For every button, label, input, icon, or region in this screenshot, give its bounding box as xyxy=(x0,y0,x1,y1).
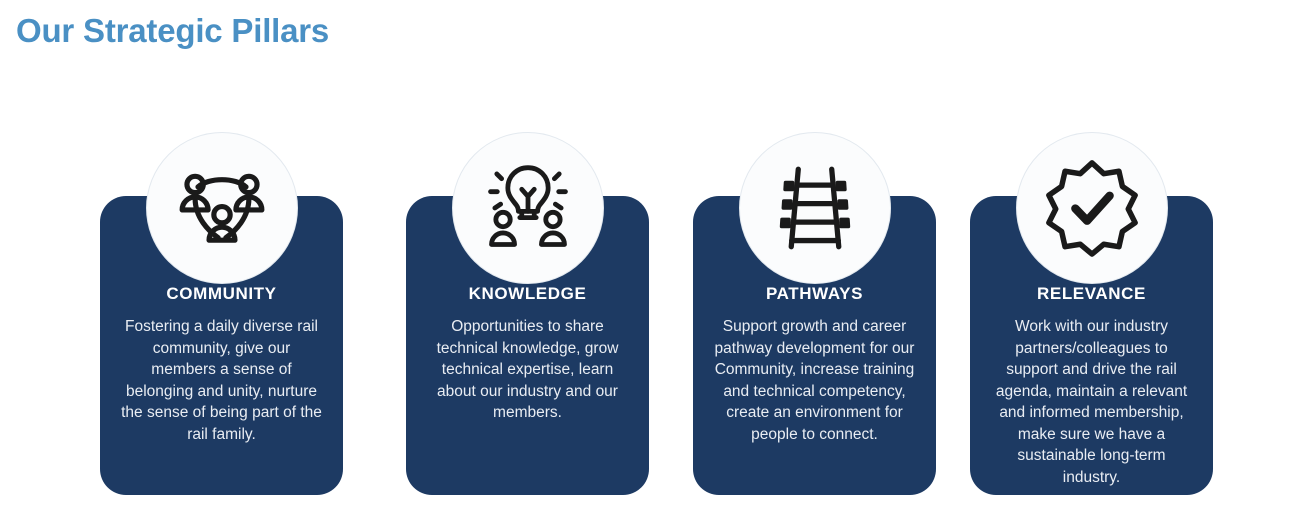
pillar-card-community: COMMUNITY Fostering a daily diverse rail… xyxy=(100,132,343,495)
community-network-icon xyxy=(146,132,298,284)
pillar-body: PATHWAYS Support growth and career pathw… xyxy=(693,284,936,445)
pillar-description: Work with our industry partners/colleagu… xyxy=(982,316,1201,488)
strategic-pillars-group: COMMUNITY Fostering a daily diverse rail… xyxy=(0,132,1300,502)
pillar-body: COMMUNITY Fostering a daily diverse rail… xyxy=(100,284,343,445)
lightbulb-people-icon xyxy=(452,132,604,284)
pillar-description: Fostering a daily diverse rail community… xyxy=(112,316,331,445)
pillar-heading: PATHWAYS xyxy=(705,284,924,304)
pillar-card-knowledge: KNOWLEDGE Opportunities to share technic… xyxy=(406,132,649,495)
railroad-track-icon xyxy=(739,132,891,284)
badge-check-icon xyxy=(1016,132,1168,284)
pillar-description: Support growth and career pathway develo… xyxy=(705,316,924,445)
pillar-card-relevance: RELEVANCE Work with our industry partner… xyxy=(970,132,1213,495)
pillar-heading: KNOWLEDGE xyxy=(418,284,637,304)
pillar-card-pathways: PATHWAYS Support growth and career pathw… xyxy=(693,132,936,495)
pillar-heading: COMMUNITY xyxy=(112,284,331,304)
pillar-description: Opportunities to share technical knowled… xyxy=(418,316,637,424)
pillar-body: RELEVANCE Work with our industry partner… xyxy=(970,284,1213,488)
pillar-heading: RELEVANCE xyxy=(982,284,1201,304)
pillar-body: KNOWLEDGE Opportunities to share technic… xyxy=(406,284,649,424)
page-title: Our Strategic Pillars xyxy=(16,12,329,50)
